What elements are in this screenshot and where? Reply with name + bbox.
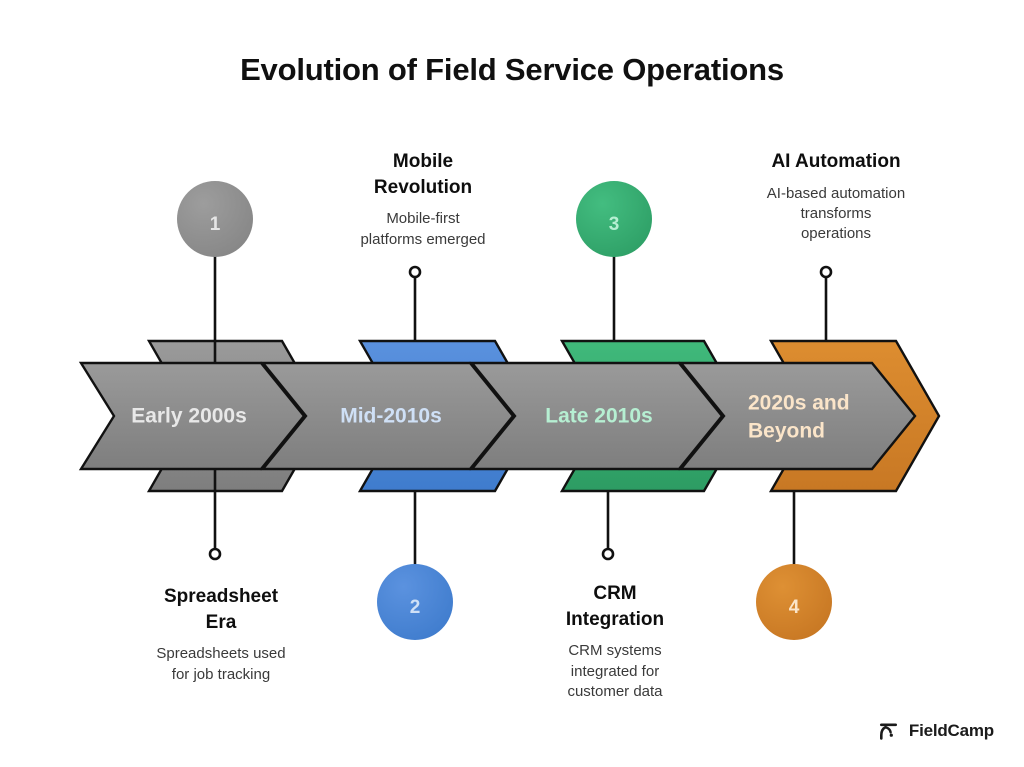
stage-number-1: 1 [210,214,221,235]
stage-circle-2[interactable]: 2 [377,564,453,640]
stage-desc-4: AI-based automation transforms operation… [721,184,951,245]
stage-heading-2-line2: Revolution [308,175,538,201]
stage-heading-4: AI Automation [721,149,951,175]
band-label-1: Early 2000s [131,405,247,428]
stage-circle-1[interactable]: 1 [177,181,253,257]
stage-heading-1-line1: Spreadsheet [106,584,336,610]
band-label-4b: Beyond [748,420,825,443]
connector-ring-4 [821,267,831,277]
stage-desc-4-line1: AI-based automation [721,184,951,204]
stage-desc-2-line1: Mobile-first [308,209,538,229]
band-label-4a: 2020s and [748,392,850,415]
connector-ring-2 [410,267,420,277]
stage-number-4: 4 [789,597,800,618]
stage-desc-4-line2: transforms [721,204,951,224]
brand-footer: FieldCamp [877,719,994,743]
stage-desc-3-line2: integrated for [500,662,730,682]
stage-circle-4[interactable]: 4 [756,564,832,640]
stage-desc-2-line2: platforms emerged [308,230,538,250]
stage-desc-1-line1: Spreadsheets used [106,644,336,664]
stage-heading-1: Spreadsheet Era [106,584,336,635]
stage-heading-2: Mobile Revolution [308,149,538,200]
stage-label-3: CRM Integration CRM systems integrated f… [500,581,730,702]
stage-desc-3: CRM systems integrated for customer data [500,641,730,702]
connector-ring-1 [210,549,220,559]
stage-label-4: AI Automation AI-based automation transf… [721,149,951,244]
stage-label-2: Mobile Revolution Mobile-first platforms… [308,149,538,250]
stage-heading-2-line1: Mobile [308,149,538,175]
infographic-card: Evolution of Field Service Operations [8,8,1016,759]
stage-desc-1: Spreadsheets used for job tracking [106,644,336,685]
stage-heading-1-line2: Era [106,610,336,636]
stage-circle-3[interactable]: 3 [576,181,652,257]
band-label-3: Late 2010s [545,405,652,428]
stage-heading-4-line1: AI Automation [721,149,951,175]
stage-heading-3: CRM Integration [500,581,730,632]
brand-name: FieldCamp [909,721,994,741]
stage-desc-3-line1: CRM systems [500,641,730,661]
stage-desc-4-line3: operations [721,224,951,244]
stage-heading-3-line2: Integration [500,607,730,633]
stage-label-1: Spreadsheet Era Spreadsheets used for jo… [106,584,336,685]
stage-heading-3-line1: CRM [500,581,730,607]
stage-number-3: 3 [609,214,620,235]
stage-number-2: 2 [410,597,421,618]
connector-ring-3 [603,549,613,559]
band-label-2: Mid-2010s [340,405,442,428]
stage-desc-1-line2: for job tracking [106,665,336,685]
stage-desc-2: Mobile-first platforms emerged [308,209,538,250]
stage-desc-3-line3: customer data [500,682,730,702]
fieldcamp-logo-icon [877,719,901,743]
